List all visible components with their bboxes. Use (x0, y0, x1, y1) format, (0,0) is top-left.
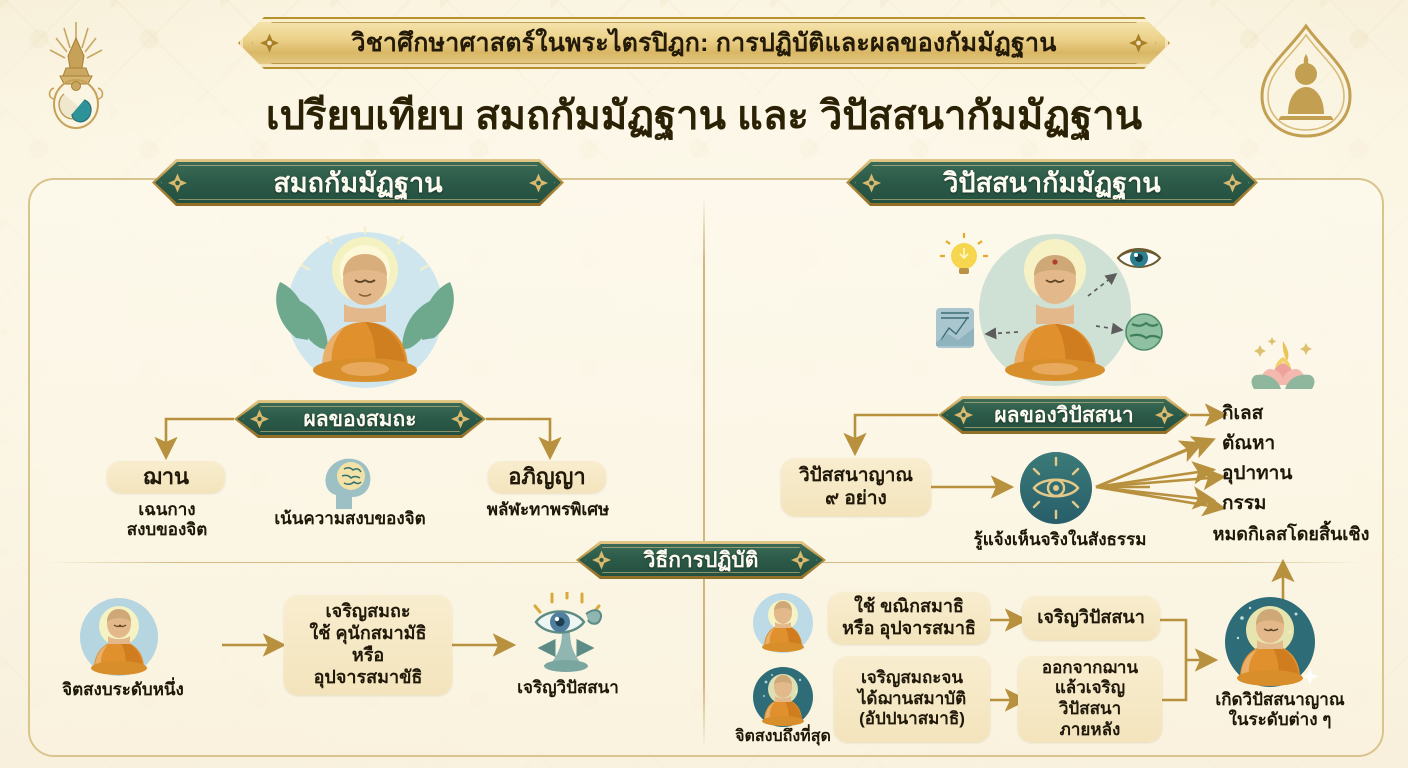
samatha-center-caption: เน้นความสงบของจิต (262, 509, 438, 529)
right-flow-row1-monk-label: จิตสงบถึงที่สุด (712, 728, 854, 747)
result-banner-vipassana: ผลของวิปัสสนา (938, 396, 1190, 434)
vipassana-knowledge-box: วิปัสสนาญาณ ๙ อย่าง (781, 458, 931, 516)
result-banner-samatha-label: ผลของสมถะ (234, 400, 486, 438)
calm-monk-icon-light (752, 592, 814, 654)
starry-monk-icon (1222, 594, 1318, 690)
deep-calm-monk-icon (752, 666, 814, 728)
right-flow-row0-step2: เจริญวิปัสสนา (1022, 596, 1160, 640)
defilement-item-1: ตัณหา (1222, 433, 1362, 455)
defilement-item-3: กรรม (1222, 493, 1362, 515)
right-flow-row1-step2: ออกจากฌาน แล้วเจริญวิปัสสนา ภายหลัง (1018, 656, 1162, 742)
defilements-caption: หมดกิเลสโดยสิ้นเชิง (1186, 524, 1396, 545)
result-abhinna-caption: พลัฬะทาพรพิเศษ (462, 500, 634, 520)
result-banner-vipassana-label: ผลของวิปัสสนา (938, 396, 1190, 434)
brain-head-icon (318, 455, 376, 510)
result-jhana-pill: ฌาน (107, 461, 225, 493)
page-title: วิชาศึกษาศาสตร์ในพระไตรปิฎก: การปฏิบัติแ… (238, 17, 1170, 69)
result-banner-samatha: ผลของสมถะ (234, 400, 486, 438)
right-flow-row1-step1: เจริญสมถะจน ได้ฌานสมาบัติ (อัปปนาสมาธิ) (834, 656, 990, 742)
panel-header-vipassana-label: วิปัสสนากัมมัฏฐาน (846, 159, 1258, 206)
method-banner: วิธีการปฏิบัติ (576, 541, 826, 579)
panel-header-samatha-label: สมถกัมมัฏฐาน (152, 159, 564, 206)
vipassana-eye-caption: รู้แจ้งเห็นจริงในสังธรรม (960, 530, 1160, 550)
right-flow-row0-step1: ใช้ ขณิกสมาธิ หรือ อุปจารสมาธิ (828, 592, 990, 644)
left-flow-step-box: เจริญสมถะ ใช้ คุนักสมามัธิ หรือ อุปจารสม… (284, 595, 452, 695)
left-flow-end-label: เจริญวิปัสสนา (492, 678, 644, 698)
result-jhana-caption: เฉนกาง สงบของจิต (82, 500, 252, 540)
calm-monk-icon (78, 596, 160, 678)
meditating-monk-lotus-illustration (236, 218, 494, 400)
method-banner-label: วิธีการปฏิบัติ (576, 541, 826, 579)
title-banner: วิชาศึกษาศาสตร์ในพระไตรปิฎก: การปฏิบัติแ… (238, 17, 1170, 69)
right-flow-result-label: เกิดวิปัสสนาญาณ ในระดับต่าง ๆ (1190, 690, 1370, 730)
defilement-item-0: กิเลส (1222, 403, 1362, 425)
result-abhinna-pill: อภิญญา (488, 461, 606, 493)
lotus-flame-icon (1248, 335, 1318, 397)
left-flow-start-label: จิตสงบระดับหนึ่ง (48, 680, 198, 700)
infographic-canvas: วิชาศึกษาศาสตร์ในพระไตรปิฎก: การปฏิบัติแ… (0, 0, 1408, 768)
page-subtitle: เปรียบเทียบ สมถกัมมัฏฐาน และ วิปัสสนากัม… (0, 83, 1408, 147)
panel-header-samatha: สมถกัมมัฏฐาน (152, 159, 564, 206)
eye-sprout-icon (522, 592, 612, 676)
insight-monk-icons-illustration (930, 222, 1180, 400)
panel-header-vipassana: วิปัสสนากัมมัฏฐาน (846, 159, 1258, 206)
defilement-item-2: อุปาทาน (1222, 463, 1372, 485)
radiant-eye-icon (1018, 450, 1094, 526)
